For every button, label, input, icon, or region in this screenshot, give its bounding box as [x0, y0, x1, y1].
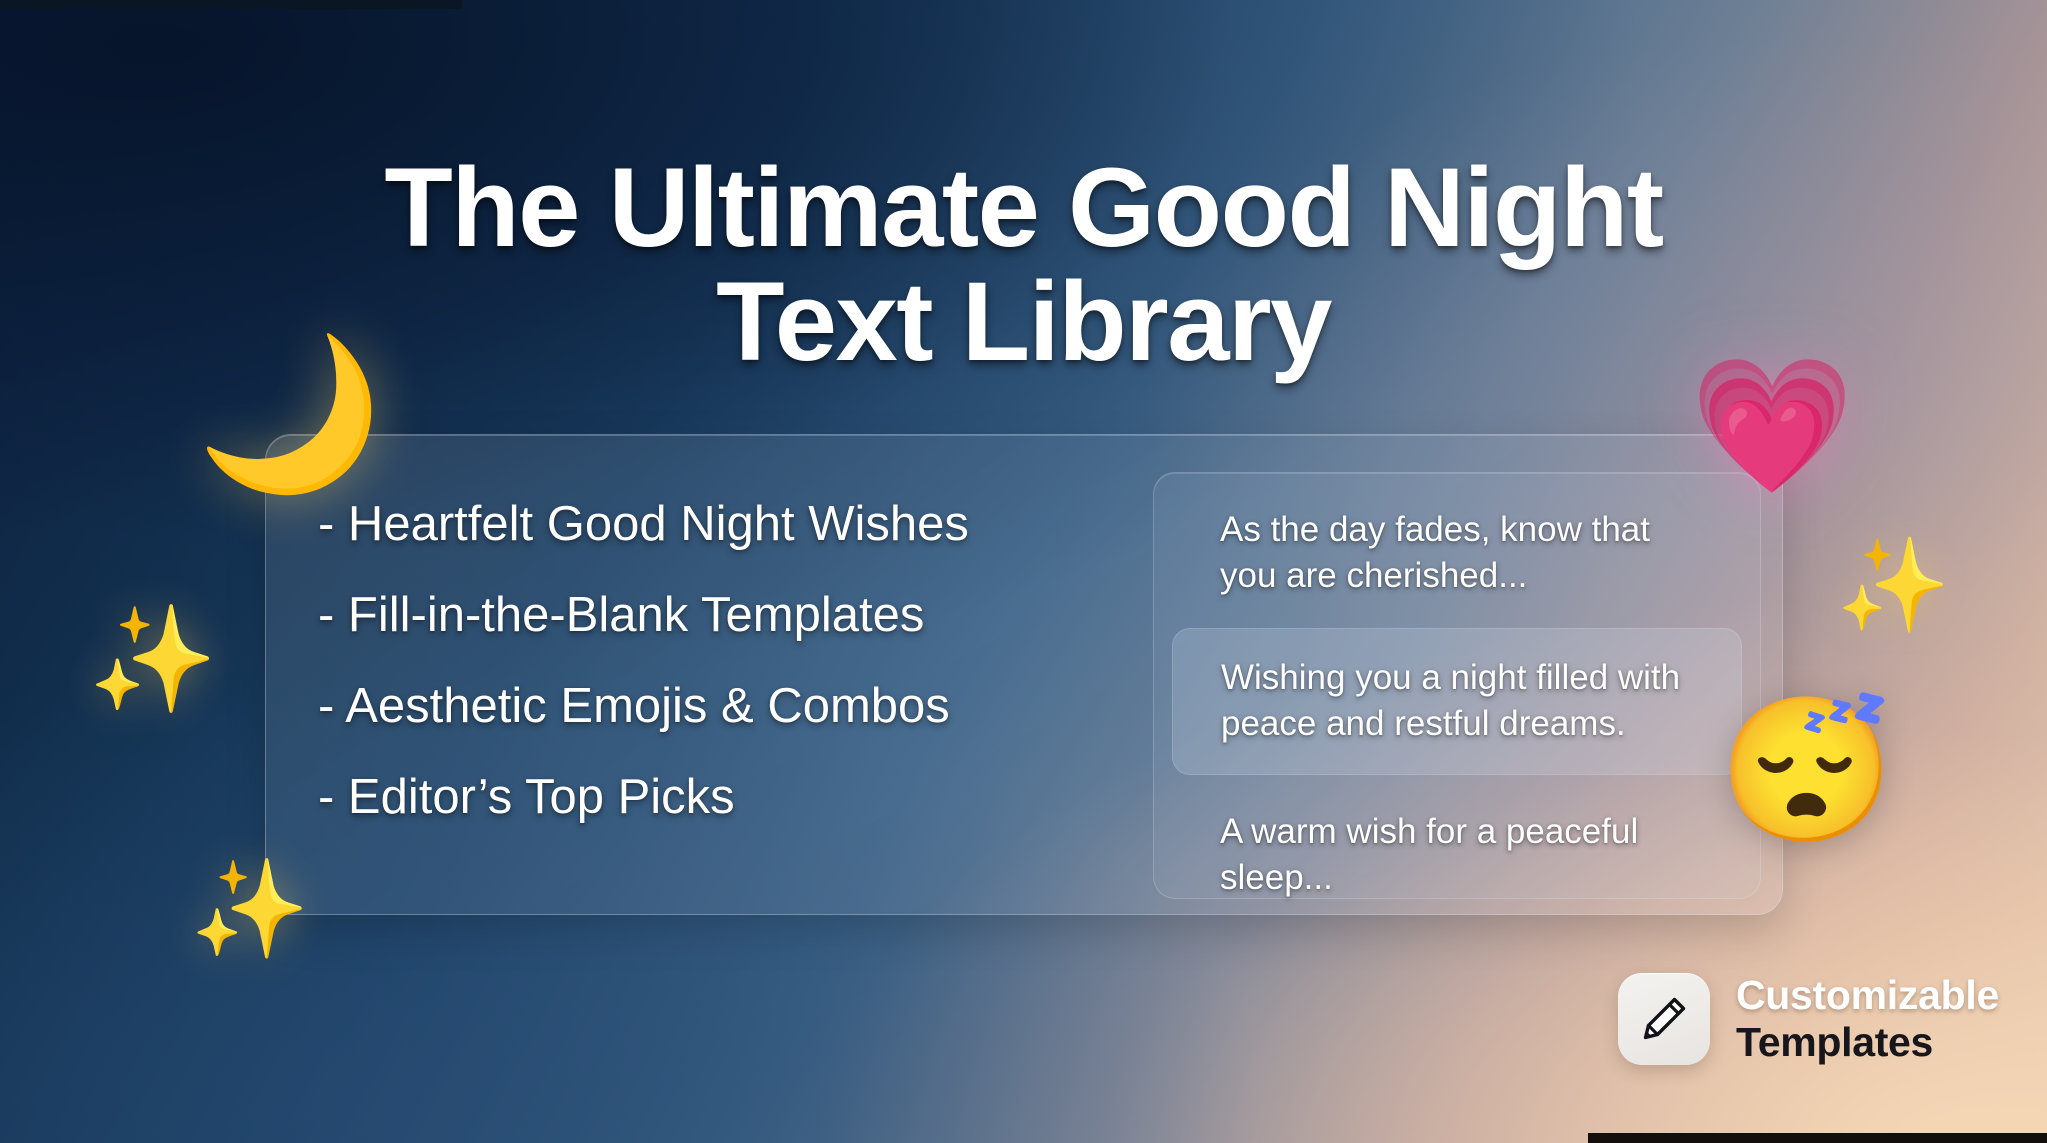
list-item: - Aesthetic Emojis & Combos: [318, 682, 1098, 731]
feature-list: - Heartfelt Good Night Wishes - Fill-in-…: [318, 500, 1098, 822]
list-item: - Heartfelt Good Night Wishes: [318, 500, 1098, 549]
sleeping-face-icon: 😴: [1718, 700, 1895, 842]
bottom-edge-strip: [1588, 1133, 2047, 1143]
top-edge-strip: [0, 0, 462, 9]
badge-label-line-1: Customizable: [1736, 972, 1999, 1019]
quote-text: Wishing you a night filled with peace an…: [1221, 655, 1695, 746]
customizable-templates-badge: Customizable Templates: [1618, 972, 1999, 1065]
quote-text: A warm wish for a peaceful sleep...: [1220, 809, 1696, 900]
pencil-icon-tile: [1618, 973, 1710, 1065]
list-item: - Fill-in-the-Blank Templates: [318, 591, 1098, 640]
sparkles-icon: ✨: [88, 608, 218, 712]
page-title-line-1: The Ultimate Good Night: [384, 145, 1662, 270]
sparkles-icon: ✨: [1836, 540, 1951, 632]
quote-preview-panel: As the day fades, know that you are cher…: [1153, 472, 1761, 899]
page-title-line-2: Text Library: [120, 265, 1927, 379]
sparkles-icon: ✨: [190, 862, 310, 958]
crescent-moon-icon: 🌙: [196, 338, 383, 488]
quote-card: As the day fades, know that you are cher…: [1172, 495, 1742, 612]
poster-canvas: The Ultimate Good Night Text Library - H…: [0, 0, 2047, 1143]
badge-label-line-2: Templates: [1736, 1019, 1999, 1066]
quote-card-highlighted: Wishing you a night filled with peace an…: [1172, 628, 1742, 775]
badge-label: Customizable Templates: [1736, 972, 1999, 1065]
growing-heart-icon: 💗: [1690, 360, 1854, 492]
pencil-icon: [1636, 991, 1692, 1047]
quote-spacer: [1154, 612, 1760, 628]
list-item: - Editor’s Top Picks: [318, 773, 1098, 822]
quote-spacer: [1154, 775, 1760, 797]
quote-text: As the day fades, know that you are cher…: [1220, 507, 1696, 598]
quote-card: A warm wish for a peaceful sleep...: [1172, 797, 1742, 914]
